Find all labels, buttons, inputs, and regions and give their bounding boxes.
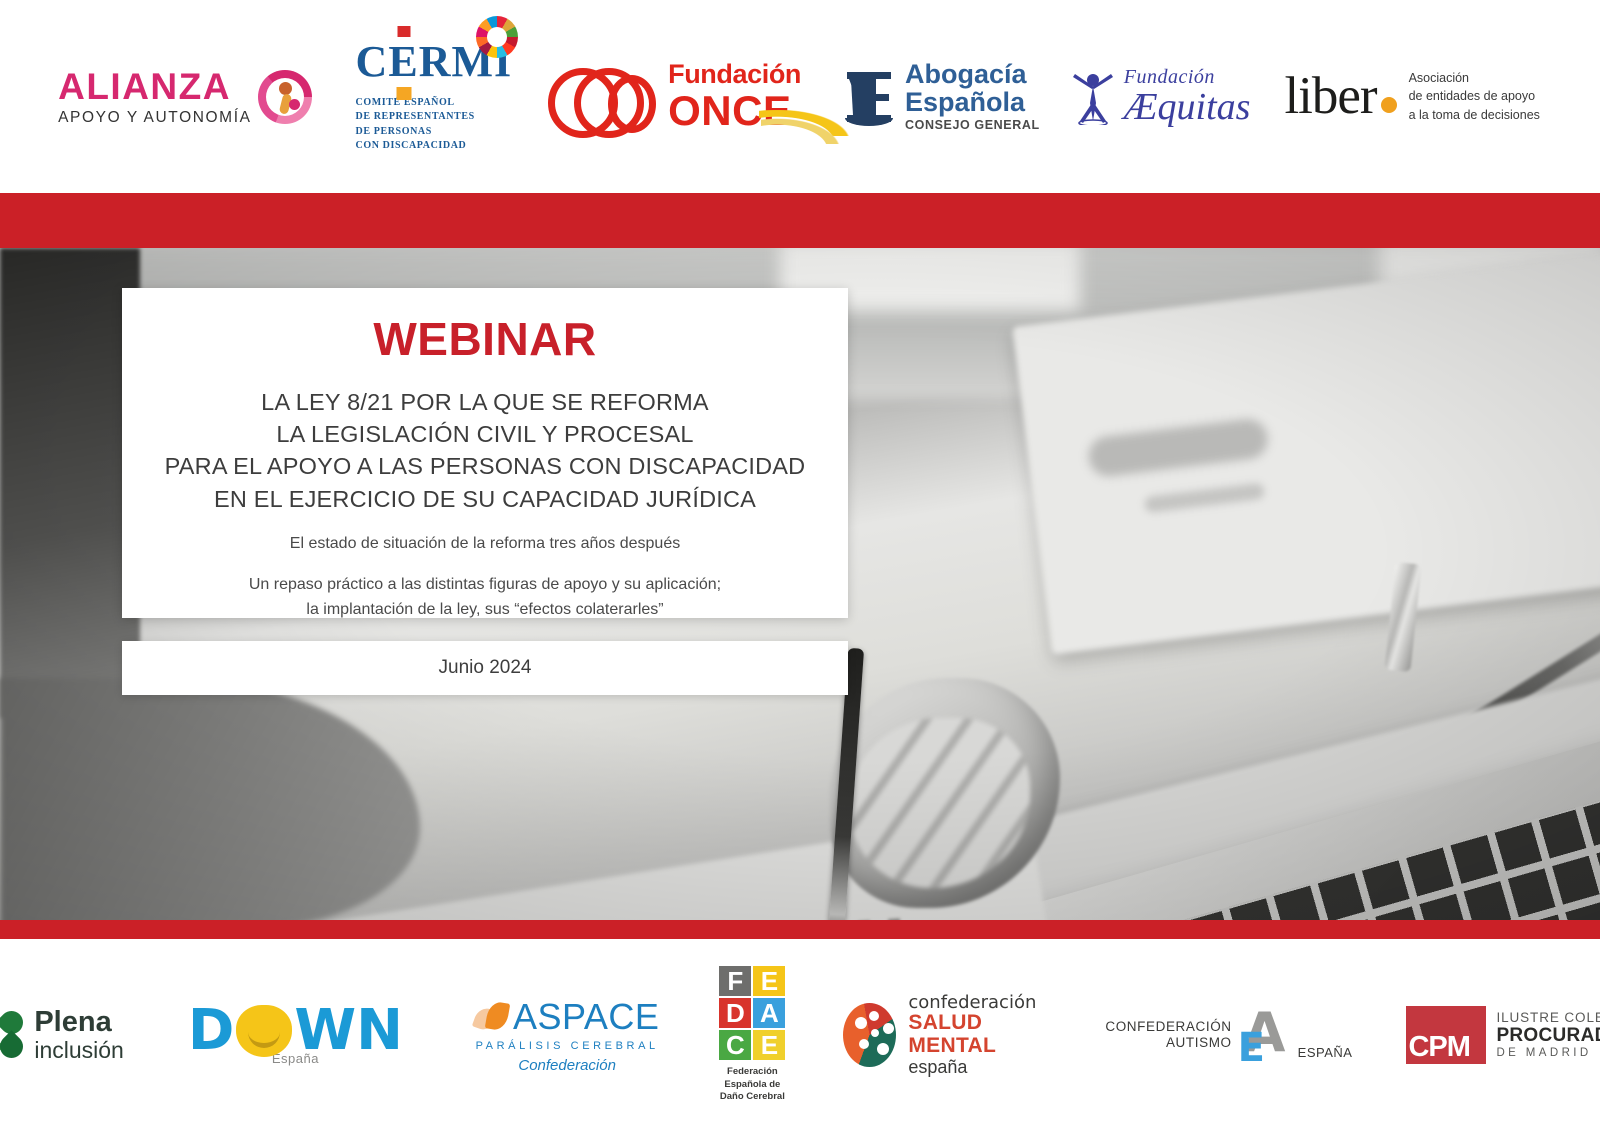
top-logo-bar: ALIANZA APOYO Y AUTONOMÍA CERMI COMITÉ E… — [0, 0, 1600, 193]
autismo-line3: ESPAÑA — [1298, 1045, 1353, 1060]
bottom-logo-bar: Plena inclusión D WN España ASPACE PARÁL… — [0, 939, 1600, 1131]
webinar-date-card: Junio 2024 — [122, 641, 848, 695]
logo-liber: liber Asociación de entidades de apoyo a… — [1284, 69, 1539, 123]
liber-subtitle-line: Asociación — [1409, 69, 1540, 87]
webinar-description-line: Un repaso práctico a las distintas figur… — [249, 573, 721, 598]
logo-icpm: CPM ILUSTRE COLEGIO DE PROCURADORES DE M… — [1406, 1006, 1600, 1064]
icpm-line2: PROCURADORES — [1496, 1025, 1600, 1046]
red-divider-bottom — [0, 920, 1600, 939]
webinar-title-line: EN EL EJERCICIO DE SU CAPACIDAD JURÍDICA — [165, 483, 806, 515]
logo-alianza: ALIANZA APOYO Y AUTONOMÍA — [58, 68, 311, 126]
alianza-circle-icon — [258, 70, 312, 124]
alianza-wordmark: ALIANZA — [58, 68, 231, 105]
logo-fundacion-aequitas: Fundación Æquitas — [1070, 67, 1251, 126]
sdg-wheel-icon — [476, 16, 518, 58]
fedace-caption-line: Daño Cerebral — [720, 1091, 785, 1104]
logo-confederacion-autismo-espana: CONFEDERACIÓN AUTISMO A E ESPAÑA — [1105, 1006, 1352, 1064]
liber-subtitle-line: a la toma de decisiones — [1409, 106, 1540, 124]
fedace-letter: E — [753, 1030, 785, 1060]
logo-fundacion-once: Fundación ONCE — [548, 61, 801, 132]
logo-fedace: F E D A C E Federación Española de Daño … — [719, 966, 785, 1104]
plena-line1: Plena — [34, 1008, 124, 1037]
webinar-description: Un repaso práctico a las distintas figur… — [249, 573, 721, 623]
aspace-sub1: PARÁLISIS CEREBRAL — [476, 1040, 659, 1052]
aspace-leaf-icon — [475, 1002, 509, 1032]
aequitas-line2: Æquitas — [1124, 88, 1251, 126]
fedace-letter: F — [719, 966, 751, 996]
salud-mental-circle-icon — [843, 1003, 896, 1067]
cermi-subtitle-line: COMITÉ ESPAÑOL — [356, 96, 475, 111]
liber-wordmark: liber — [1284, 73, 1396, 121]
abogacia-line1: Abogacía — [905, 61, 1040, 89]
red-divider-top — [0, 193, 1600, 248]
webinar-subtitle: El estado de situación de la reforma tre… — [290, 535, 680, 553]
webinar-description-line: la implantación de la ley, sus “efectos … — [249, 598, 721, 623]
down-sub: España — [272, 1051, 319, 1066]
icpm-line3: DE MADRID — [1496, 1047, 1600, 1060]
abogacia-line2: Española — [905, 89, 1040, 117]
fedace-caption-line: Española de — [720, 1079, 785, 1092]
aequitas-figure-icon — [1070, 69, 1116, 125]
fedace-letter: E — [753, 966, 785, 996]
salud-line1: confederación — [908, 993, 1047, 1012]
webinar-poster: ALIANZA APOYO Y AUTONOMÍA CERMI COMITÉ E… — [0, 0, 1600, 1131]
abogacia-line3: CONSEJO GENERAL — [905, 119, 1040, 132]
salud-line3: españa — [908, 1058, 1047, 1077]
logo-cermi: CERMI COMITÉ ESPAÑOL DE REPRESENTANTES D… — [356, 40, 513, 154]
webinar-title-card: WEBINAR LA LEY 8/21 POR LA QUE SE REFORM… — [122, 288, 848, 618]
webinar-title-line: LA LEGISLACIÓN CIVIL Y PROCESAL — [165, 418, 806, 450]
fedace-letter: D — [719, 998, 751, 1028]
down-letters-wn: WN — [294, 1004, 403, 1057]
autismo-ae-icon: A E — [1236, 1006, 1294, 1064]
autismo-line1: CONFEDERACIÓN — [1105, 1019, 1231, 1035]
fedace-letter: C — [719, 1030, 751, 1060]
webinar-heading: WEBINAR — [373, 316, 596, 362]
cermi-subtitle: COMITÉ ESPAÑOL DE REPRESENTANTES DE PERS… — [356, 96, 475, 154]
icpm-line1: ILUSTRE COLEGIO DE — [1496, 1010, 1600, 1025]
webinar-title-line: LA LEY 8/21 POR LA QUE SE REFORMA — [165, 386, 806, 418]
liber-dot-icon — [1381, 97, 1397, 113]
liber-word-text: liber — [1284, 67, 1376, 125]
clover-icon — [0, 1011, 24, 1059]
icpm-mark-icon: CPM — [1406, 1006, 1486, 1064]
cermi-letter-c: C — [356, 37, 389, 86]
autismo-mark-e: E — [1238, 1028, 1265, 1068]
webinar-title-block: LA LEY 8/21 POR LA QUE SE REFORMA LA LEG… — [165, 386, 806, 515]
once-line1: Fundación — [668, 61, 801, 88]
fedace-letter-grid: F E D A C E — [719, 966, 785, 1060]
down-smiley-icon — [236, 1005, 292, 1057]
cermi-letter-e: E — [388, 40, 418, 84]
logo-abogacia-espanola: Abogacía Española CONSEJO GENERAL — [843, 61, 1040, 132]
aspace-wordmark: ASPACE — [513, 996, 659, 1038]
cermi-subtitle-line: DE REPRESENTANTES — [356, 110, 475, 125]
webinar-date: Junio 2024 — [439, 657, 532, 679]
liber-subtitle: Asociación de entidades de apoyo a la to… — [1409, 69, 1540, 123]
logo-aspace: ASPACE PARÁLISIS CEREBRAL Confederación — [475, 996, 659, 1074]
fedace-caption-line: Federación — [720, 1066, 785, 1079]
plena-line2: inclusión — [34, 1039, 124, 1062]
once-swoosh2-icon — [761, 118, 841, 144]
once-rings-icon — [548, 68, 656, 126]
logo-down-espana: D WN España — [188, 1004, 403, 1066]
alianza-tagline: APOYO Y AUTONOMÍA — [58, 110, 251, 126]
salud-line2: SALUD MENTAL — [908, 1012, 1047, 1057]
cermi-subtitle-line: DE PERSONAS — [356, 125, 475, 140]
fedace-letter: A — [753, 998, 785, 1028]
webinar-title-line: PARA EL APOYO A LAS PERSONAS CON DISCAPA… — [165, 450, 806, 482]
logo-plena-inclusion: Plena inclusión — [0, 1008, 124, 1062]
liber-subtitle-line: de entidades de apoyo — [1409, 87, 1540, 105]
aspace-sub2: Confederación — [518, 1057, 616, 1074]
down-letter-d: D — [188, 1004, 234, 1057]
autismo-line2: AUTISMO — [1166, 1035, 1232, 1051]
abogacia-emblem-icon — [843, 68, 895, 126]
cermi-subtitle-line: CON DISCAPACIDAD — [356, 139, 475, 154]
aequitas-line1: Fundación — [1124, 67, 1251, 87]
logo-confederacion-salud-mental: confederación SALUD MENTAL españa — [843, 993, 1047, 1077]
fedace-caption: Federación Española de Daño Cerebral — [720, 1066, 785, 1104]
icpm-mark-text: CPM — [1406, 1031, 1469, 1064]
